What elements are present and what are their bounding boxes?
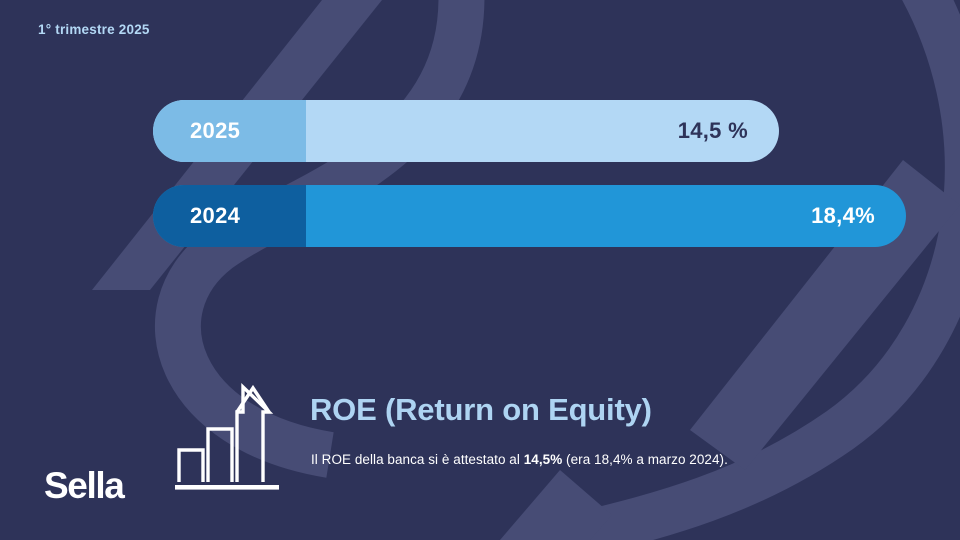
period-label: 1° trimestre 2025 — [38, 22, 150, 37]
kpi-description: Il ROE della banca si è attestato al 14,… — [311, 452, 728, 467]
bar-chart-up-arrow-icon — [175, 382, 279, 494]
kpi-description-prefix: Il ROE della banca si è attestato al — [311, 452, 524, 467]
bar-value-2025: 14,5 % — [678, 118, 748, 144]
bar-value-2024: 18,4% — [811, 203, 875, 229]
slide-root: 1° trimestre 2025 2025 14,5 % 2024 18,4%… — [0, 0, 960, 540]
bar-row-2024: 2024 18,4% — [153, 185, 906, 247]
kpi-description-suffix: (era 18,4% a marzo 2024). — [562, 452, 728, 467]
bar-year-2025: 2025 — [190, 118, 240, 144]
kpi-description-highlight: 14,5% — [524, 452, 563, 467]
brand-logo: Sella — [44, 465, 123, 507]
kpi-title: ROE (Return on Equity) — [310, 392, 652, 428]
bar-year-2024: 2024 — [190, 203, 240, 229]
bar-row-2025: 2025 14,5 % — [153, 100, 779, 162]
